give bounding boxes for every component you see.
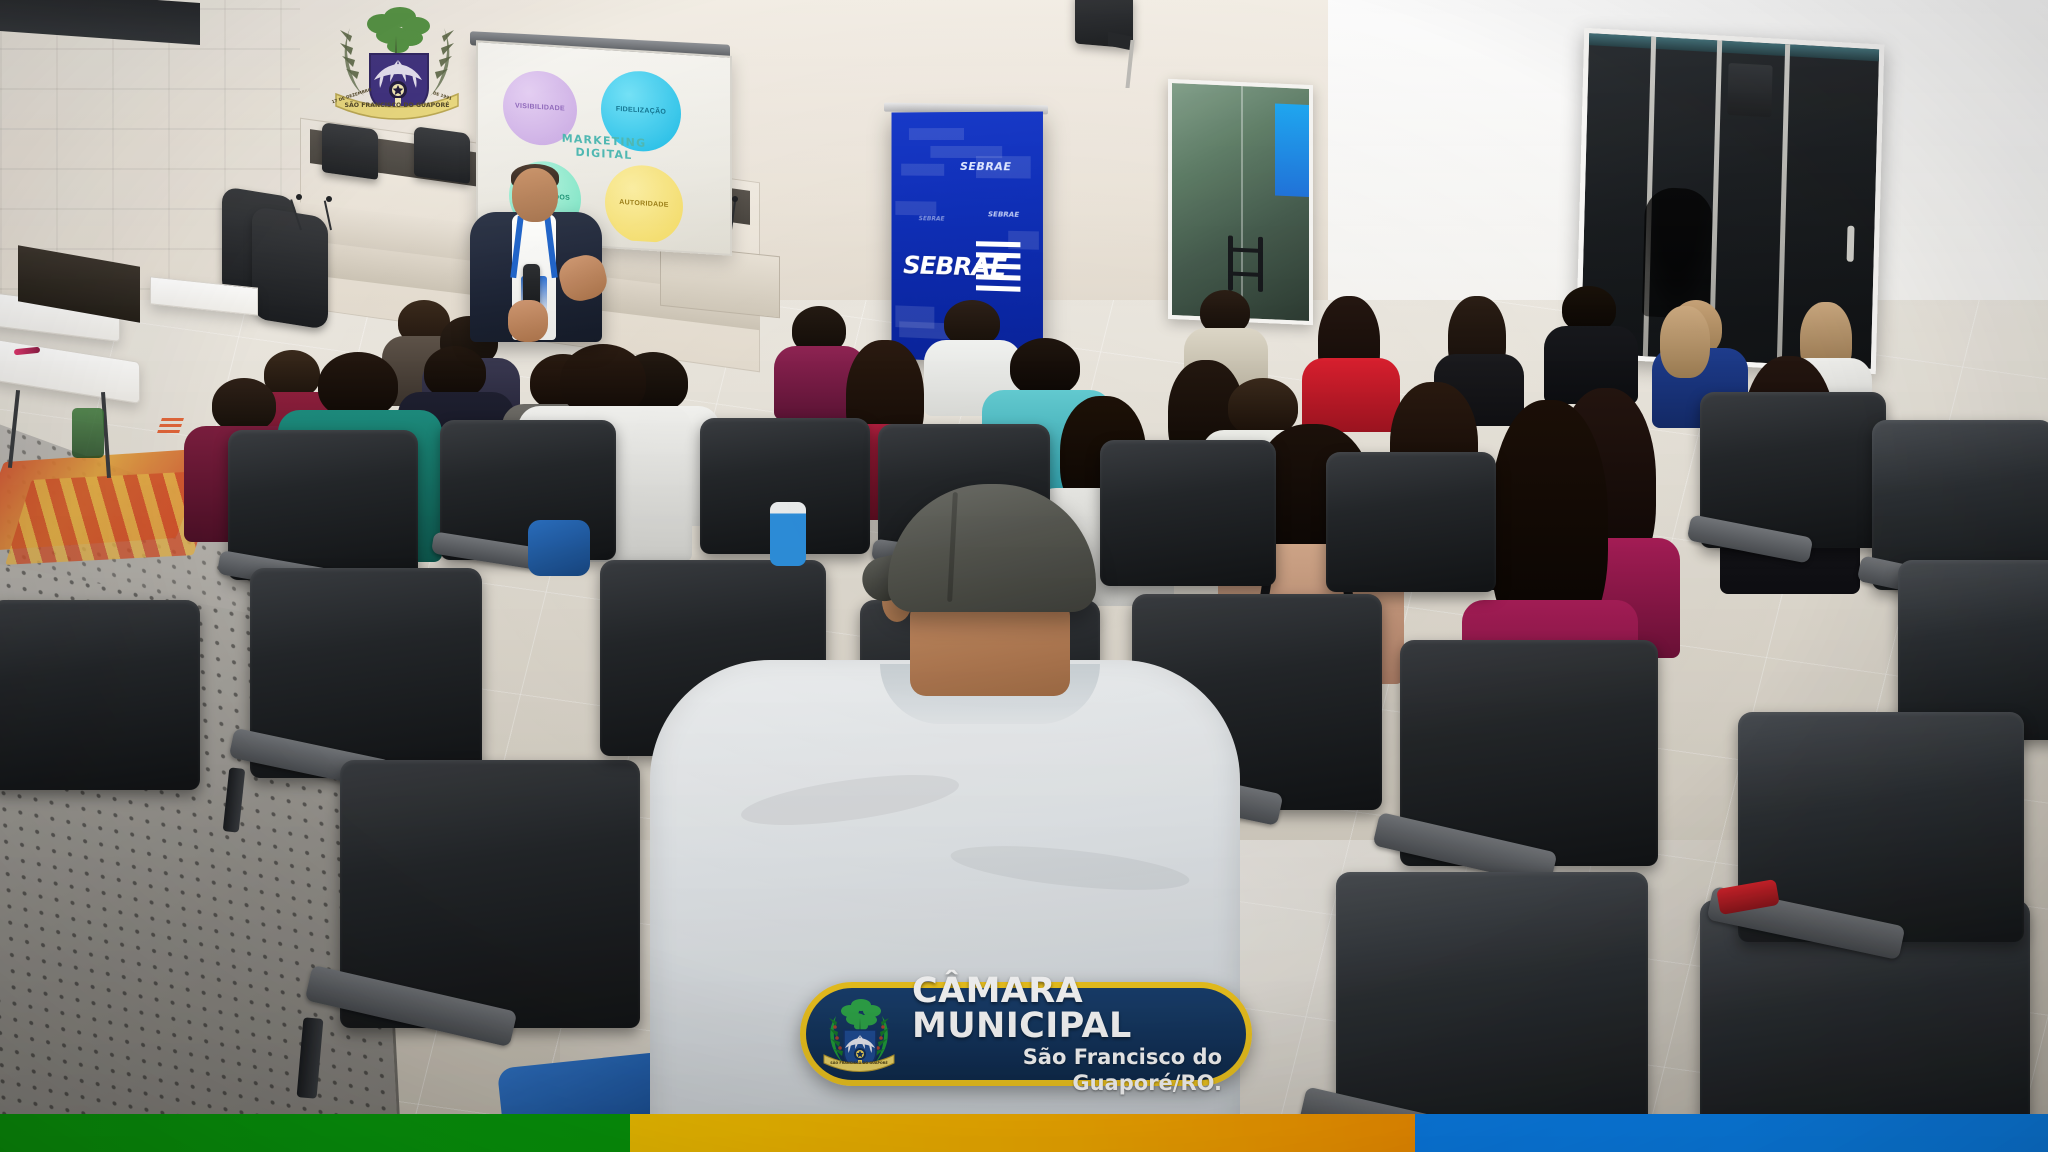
badge-title: CÂMARA MUNICIPAL [912,974,1226,1044]
door-handle-bar-upper [1228,247,1262,252]
interior-speaker-icon [1727,63,1772,117]
door-split-line [1241,86,1243,318]
dais-chair-1 [322,122,378,180]
banner-bar-1 [909,128,964,140]
presenter-head [512,168,558,222]
sebrae-stripes-icon [976,238,1020,292]
banner-small-text-3: SEBRAE [919,215,945,222]
badge-text-block: CÂMARA MUNICIPAL São Francisco do Guapor… [912,972,1226,1097]
color-bar-blue [1415,1114,2048,1152]
glass-door-center-right[interactable] [1168,79,1313,325]
wall-emblem-ribbon-bottom: SÃO FRANCISCO DO GUAPORÉ [345,100,450,109]
sebrae-logo: SEBRAE [903,252,1031,281]
dais-chair-2 [414,126,470,184]
photo-canvas: SÃO FRANCISCO DO GUAPORÉ 17 DE DEZEMBRO … [0,0,2048,1152]
blue-bottle [770,502,806,566]
bottom-color-bar [0,1114,2048,1152]
banner-bar-5 [895,201,936,215]
door-handle-bar-lower [1228,271,1262,276]
color-bar-green [0,1114,630,1152]
banner-sebrae-small-2: SEBRAE [988,210,1019,219]
foreground-neck [910,600,1070,696]
badge-crest-ribbon-text: SÃO FRANCISCO DO GUAPORÉ [830,1060,888,1065]
banner-sebrae-small-1: SEBRAE [960,160,1012,173]
badge-subtitle: São Francisco do Guaporé/RO. [912,1044,1226,1097]
dais-microphone-head-2 [326,196,332,202]
presenter-hand-left [508,300,548,342]
slide-bubble-autoridade: AUTORIDADE [605,163,683,246]
slide-center-title: MARKETING DIGITAL [562,133,647,163]
banner-small-text-2: SEBRAE [988,210,1019,219]
dais-microphone-head-5 [732,196,738,202]
banner-sebrae-small-3: SEBRAE [919,215,945,222]
door-handle-left[interactable] [1228,235,1233,290]
wall-coat-of-arms: SÃO FRANCISCO DO GUAPORÉ 17 DE DEZEMBRO … [322,2,472,124]
banner-small-text-1: SEBRAE [960,160,1012,173]
dais-microphone-head-1 [296,194,302,200]
shirt-fold-1 [738,765,961,835]
door-latch[interactable] [1847,226,1855,262]
glass-reflection-blue [1275,104,1309,197]
green-bin [72,408,104,458]
shirt-fold-2 [949,838,1191,899]
banner-bar-3 [901,164,944,176]
door-mullion-3 [1777,44,1790,364]
camara-municipal-badge: SÃO FRANCISCO DO GUAPORÉ CÂMARA MUNICIPA… [800,982,1252,1086]
backpack-blue [528,520,590,576]
badge-crest-icon: SÃO FRANCISCO DO GUAPORÉ [820,994,898,1074]
slide-bubble-label-1: VISIBILIDADE [515,103,565,114]
color-bar-yellow [630,1114,1415,1152]
dais-chair-4 [252,206,328,330]
slide-bubble-label-4: AUTORIDADE [619,199,669,210]
slide-bubble-label-2: FIDELIZAÇÃO [616,106,666,117]
person-silhouette-behind-glass [1642,186,1713,320]
door-handle-right[interactable] [1258,237,1263,292]
